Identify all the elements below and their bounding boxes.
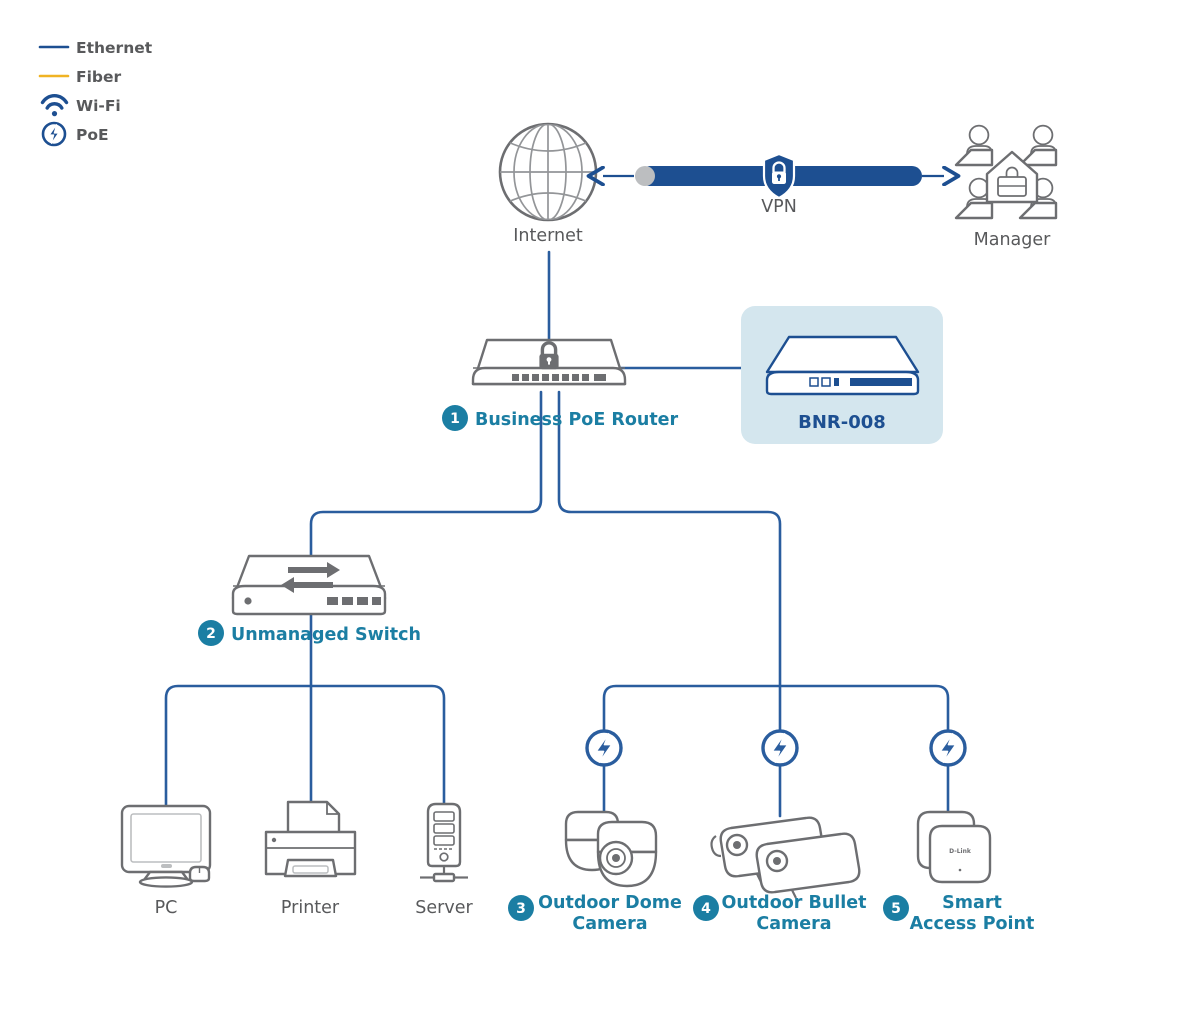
dome-camera-icon xyxy=(566,812,656,886)
vpn-label: VPN xyxy=(761,197,797,217)
legend-item-wifi: Wi-Fi xyxy=(43,96,121,116)
poe-badge-access-point xyxy=(930,730,966,766)
badge-dome-camera: 3 xyxy=(508,895,534,921)
node-label-manager: Manager xyxy=(974,230,1052,250)
node-internet[interactable]: Internet xyxy=(500,124,596,246)
legend-item-label: PoE xyxy=(76,126,109,144)
vpn-tunnel[interactable]: VPN xyxy=(603,154,944,217)
server-tower-icon xyxy=(420,804,468,881)
badge-number: 5 xyxy=(891,901,901,917)
legend-item-poe: PoE xyxy=(43,123,109,145)
node-label-bullet-camera-line2: Camera xyxy=(756,914,831,934)
node-pc[interactable]: PC xyxy=(122,806,210,918)
node-access-point[interactable]: D-Link D-Link 5 Smart Access Point xyxy=(883,812,1034,934)
legend: Ethernet Fiber Wi-Fi PoE xyxy=(40,39,153,145)
node-label-router: Business PoE Router xyxy=(475,410,679,430)
node-label-switch: Unmanaged Switch xyxy=(231,625,421,645)
node-label-dome-camera-line2: Camera xyxy=(572,914,647,934)
legend-item-label: Fiber xyxy=(76,68,122,86)
poe-badge-dome xyxy=(586,730,622,766)
badge-number: 3 xyxy=(516,901,526,917)
node-label-pc: PC xyxy=(155,898,178,918)
product-callout[interactable]: BNR-008 xyxy=(741,306,943,444)
topology-svg: Ethernet Fiber Wi-Fi PoE xyxy=(0,0,1200,1034)
ap-brand-label-front: D-Link xyxy=(949,848,972,855)
remote-workers-icon xyxy=(956,126,1056,218)
legend-item-label: Ethernet xyxy=(76,39,153,57)
bullet-camera-icon xyxy=(712,818,860,898)
node-label-server: Server xyxy=(415,898,473,918)
badge-number: 1 xyxy=(450,411,460,427)
router-product-icon xyxy=(767,337,918,394)
access-point-icon: D-Link D-Link xyxy=(918,812,990,882)
legend-item-ethernet: Ethernet xyxy=(40,39,153,57)
node-label-bullet-camera-line1: Outdoor Bullet xyxy=(721,893,866,913)
printer-icon xyxy=(266,802,355,876)
cable-bus-left xyxy=(166,686,444,816)
node-dome-camera[interactable]: 3 Outdoor Dome Camera xyxy=(508,812,682,934)
poe-bolt-icon xyxy=(43,123,65,145)
legend-item-label: Wi-Fi xyxy=(76,97,121,115)
badge-number: 2 xyxy=(206,626,216,642)
badge-bullet-camera: 4 xyxy=(693,895,719,921)
node-printer[interactable]: Printer xyxy=(266,802,355,918)
badge-access-point: 5 xyxy=(883,895,909,921)
node-switch[interactable]: 2 Unmanaged Switch xyxy=(198,556,421,646)
node-router[interactable]: 1 Business PoE Router xyxy=(442,340,679,431)
router-icon xyxy=(473,340,625,384)
vpn-endpoint-dot xyxy=(635,166,655,186)
node-label-dome-camera-line1: Outdoor Dome xyxy=(538,893,682,913)
product-model-label: BNR-008 xyxy=(798,412,886,433)
badge-switch: 2 xyxy=(198,620,224,646)
globe-icon xyxy=(500,124,596,220)
desktop-pc-icon xyxy=(122,806,210,887)
badge-router: 1 xyxy=(442,405,468,431)
node-bullet-camera[interactable]: 4 Outdoor Bullet Camera xyxy=(693,818,867,934)
legend-item-fiber: Fiber xyxy=(40,68,122,86)
node-server[interactable]: Server xyxy=(415,804,473,918)
badge-number: 4 xyxy=(701,901,711,917)
node-label-internet: Internet xyxy=(513,226,583,246)
switch-icon xyxy=(233,556,385,614)
poe-badge-bullet xyxy=(762,730,798,766)
node-label-printer: Printer xyxy=(281,898,340,918)
node-label-access-point-line2: Access Point xyxy=(910,914,1035,934)
network-diagram-canvas: Ethernet Fiber Wi-Fi PoE xyxy=(0,0,1200,1034)
wifi-icon xyxy=(43,96,67,116)
node-label-access-point-line1: Smart xyxy=(942,893,1002,913)
node-manager[interactable]: Manager xyxy=(956,126,1056,250)
shield-lock-icon xyxy=(764,154,794,198)
